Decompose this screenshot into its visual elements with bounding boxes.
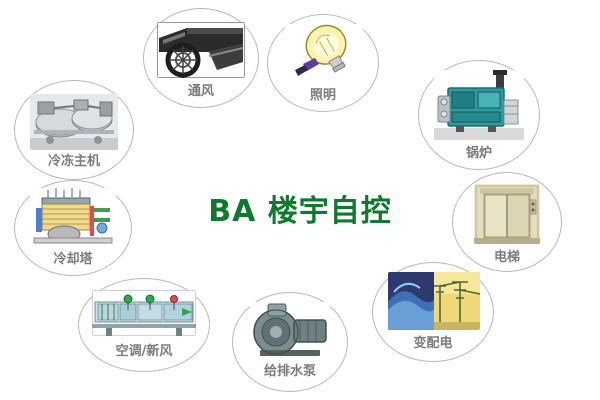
ahu-photo	[92, 290, 196, 336]
node-label: 变配电	[372, 332, 494, 351]
node-boiler[interactable]: 锅炉	[418, 60, 540, 170]
chiller-photo	[30, 94, 118, 150]
ventilation-photo	[157, 22, 245, 78]
substation-photo	[388, 272, 480, 330]
waterpump-photo	[250, 302, 330, 358]
node-lighting[interactable]: 照明	[267, 14, 379, 112]
ba-system-diagram: 冷冻主机 通风	[0, 0, 600, 400]
page-title: BA 楼宇自控	[150, 186, 450, 230]
cooling-tower-photo	[30, 188, 116, 246]
elevator-photo	[474, 184, 540, 244]
node-elevator[interactable]: 电梯	[452, 172, 562, 272]
node-label: 冷冻主机	[14, 150, 134, 169]
boiler-photo	[434, 70, 524, 140]
node-coolingtower[interactable]: 冷却塔	[14, 180, 132, 276]
node-substation[interactable]: 变配电	[372, 262, 494, 362]
node-waterpump[interactable]: 给排水泵	[232, 292, 348, 392]
node-hvac[interactable]: 空调/新风	[78, 278, 210, 372]
node-ventilation[interactable]: 通风	[143, 8, 259, 108]
node-chiller[interactable]: 冷冻主机	[14, 80, 134, 180]
lighting-photo	[285, 24, 363, 82]
node-label: 锅炉	[418, 142, 540, 161]
node-label: 冷却塔	[14, 248, 132, 267]
node-label: 通风	[143, 80, 259, 99]
node-label: 给排水泵	[232, 360, 348, 379]
node-label: 空调/新风	[78, 340, 210, 359]
node-label: 照明	[267, 84, 379, 103]
